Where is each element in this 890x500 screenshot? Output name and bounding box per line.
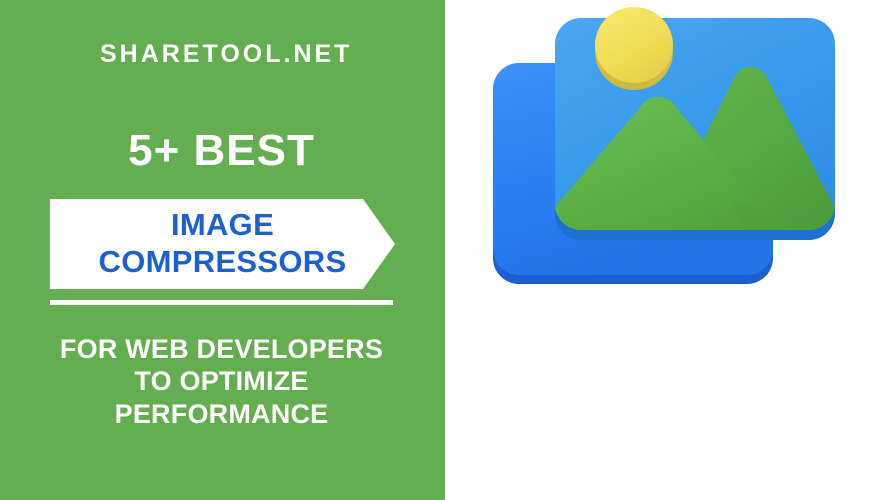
subheadline-line-2: TO OPTIMIZE	[44, 365, 399, 397]
arrow-banner: IMAGE COMPRESSORS	[50, 199, 395, 289]
subheadline-block: FOR WEB DEVELOPERS TO OPTIMIZE PERFORMAN…	[44, 333, 399, 430]
image-gallery-icon	[445, 0, 890, 500]
subheadline-line-3: PERFORMANCE	[44, 398, 399, 430]
poster-canvas: SHARETOOL.NET 5+ BEST IMAGE COMPRESSORS …	[0, 0, 890, 500]
page-headline: 5+ BEST	[50, 128, 393, 174]
banner-line-2: COMPRESSORS	[66, 244, 379, 281]
left-green-panel: SHARETOOL.NET 5+ BEST IMAGE COMPRESSORS …	[0, 0, 445, 500]
illustration-area	[445, 0, 890, 500]
sun-circle	[595, 7, 673, 90]
banner-line-1: IMAGE	[66, 207, 379, 244]
horizontal-divider	[50, 300, 393, 305]
subheadline-line-1: FOR WEB DEVELOPERS	[44, 333, 399, 365]
front-photo-card	[549, 7, 839, 240]
site-name-label: SHARETOOL.NET	[100, 42, 352, 67]
